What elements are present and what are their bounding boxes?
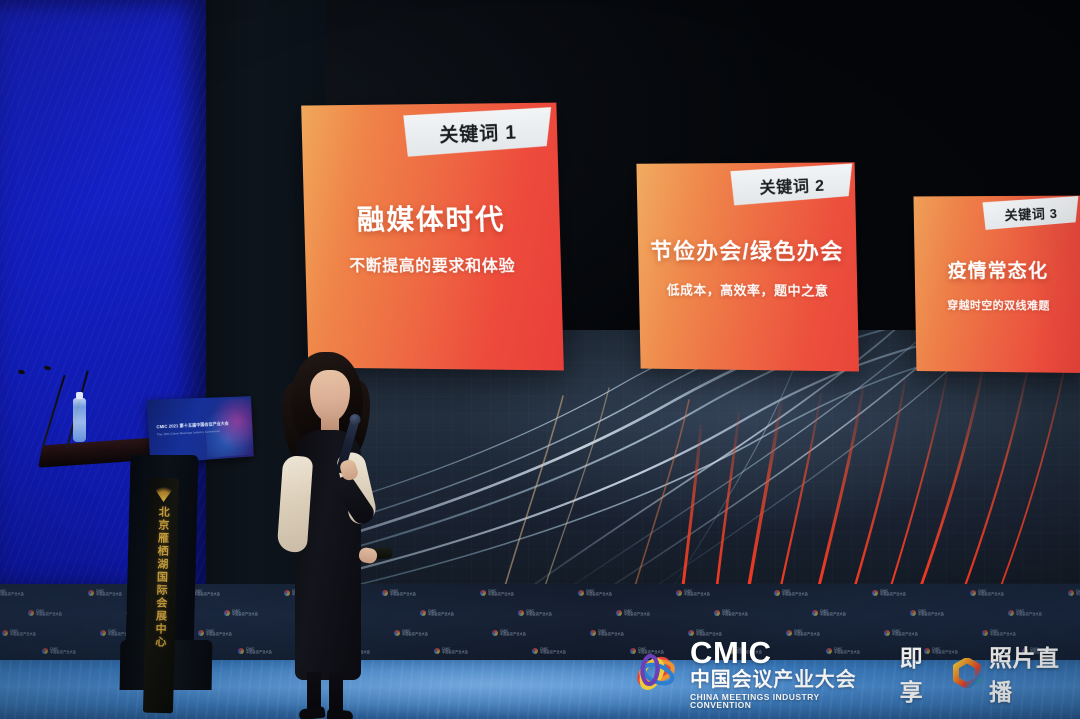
photo-watermark: CMIC 中国会议产业大会 CHINA MEETINGS INDUSTRY CO… <box>630 638 1080 708</box>
stage-front-mini-logo-text: CMIC中国会议产业大会 <box>1016 610 1042 617</box>
stage-front-mini-logo-text: CMIC中国会议产业大会 <box>10 630 36 637</box>
venue-emblem-icon <box>153 484 173 503</box>
speaker-presenter <box>255 352 405 719</box>
cmic-ribbon-icon <box>630 648 682 698</box>
cmic-ring-icon <box>532 648 538 654</box>
stage-front-mini-logo-text: CMIC中国会议产业大会 <box>782 590 808 597</box>
stage-front-mini-logo: CMIC中国会议产业大会 <box>884 630 918 637</box>
stage-front-mini-logo: CMIC中国会议产业大会 <box>518 610 552 617</box>
stage-front-mini-logo-text: CMIC中国会议产业大会 <box>402 630 428 637</box>
stage-front-mini-logo-text: CMIC中国会议产业大会 <box>526 610 552 617</box>
cmic-logo-en: CMIC <box>690 637 878 668</box>
keyword-card-2-title: 节俭办会/绿色办会 <box>650 234 844 266</box>
cmic-ring-icon <box>480 590 486 596</box>
stage-front-mini-logo-text: CMIC中国会议产业大会 <box>1076 590 1080 597</box>
stage-front-mini-logo: CMIC中国会议产业大会 <box>2 630 36 637</box>
venue-banner-text: 北京雁栖湖国际会展中心 <box>152 506 172 649</box>
stage-front-mini-logo-text: CMIC中国会议产业大会 <box>50 648 76 655</box>
stage-front-mini-logo: CMIC中国会议产业大会 <box>198 630 232 637</box>
cmic-ring-icon <box>970 590 976 596</box>
stage-front-mini-logo: CMIC中国会议产业大会 <box>590 630 624 637</box>
cmic-ring-icon <box>42 648 48 654</box>
cmic-ring-icon <box>434 648 440 654</box>
cmic-logo-text: CMIC 中国会议产业大会 CHINA MEETINGS INDUSTRY CO… <box>690 637 878 710</box>
stage-front-mini-logo: CMIC中国会议产业大会 <box>434 648 468 655</box>
venue-vertical-banner: 北京雁栖湖国际会展中心 <box>143 478 179 714</box>
stage-front-mini-logo-text: CMIC中国会议产业大会 <box>978 590 1004 597</box>
cmic-logo-cn: 中国会议产业大会 <box>690 670 878 690</box>
stage-front-mini-logo: CMIC中国会议产业大会 <box>0 590 24 597</box>
cmic-ring-icon <box>1008 610 1014 616</box>
stage-front-mini-logo: CMIC中国会议产业大会 <box>578 590 612 597</box>
cmic-ring-icon <box>590 630 596 636</box>
cmic-ring-icon <box>518 610 524 616</box>
podium-screen-artwork <box>204 398 253 458</box>
cmic-ring-icon <box>100 630 106 636</box>
cmic-ring-icon <box>1068 590 1074 596</box>
partner-hexagon-icon <box>952 658 982 688</box>
stage-front-mini-logo-text: CMIC中国会议产业大会 <box>586 590 612 597</box>
cmic-ring-icon <box>28 610 34 616</box>
partner-logo: 即享 照片直播 <box>900 639 1080 707</box>
cmic-ring-icon <box>238 648 244 654</box>
cmic-logo: CMIC 中国会议产业大会 CHINA MEETINGS INDUSTRY CO… <box>630 637 878 710</box>
stage-front-mini-logo: CMIC中国会议产业大会 <box>88 590 122 597</box>
stage-front-mini-logo-text: CMIC中国会议产业大会 <box>36 610 62 617</box>
stage-front-mini-logo-text: CMIC中国会议产业大会 <box>488 590 514 597</box>
water-bottle <box>73 398 86 442</box>
stage-front-mini-logo: CMIC中国会议产业大会 <box>420 610 454 617</box>
stage-front-mini-logo: CMIC中国会议产业大会 <box>872 590 906 597</box>
stage-front-mini-logo-text: CMIC中国会议产业大会 <box>684 590 710 597</box>
partner-brand-text: 即享 <box>900 639 945 707</box>
stage-front-mini-logo: CMIC中国会议产业大会 <box>532 648 566 655</box>
cmic-ring-icon <box>812 610 818 616</box>
stage-front-mini-logo-text: CMIC中国会议产业大会 <box>96 590 122 597</box>
stage-front-mini-logo-text: CMIC中国会议产业大会 <box>990 630 1016 637</box>
conference-stage-photo: 融媒体时代 不断提高的要求和体验 关键词 1 节俭办会/绿色办会 低成本，高效率… <box>0 0 1080 719</box>
stage-front-mini-logo-text: CMIC中国会议产业大会 <box>428 610 454 617</box>
stage-front-mini-logo: CMIC中国会议产业大会 <box>616 610 650 617</box>
cmic-ring-icon <box>982 630 988 636</box>
stage-front-mini-logo: CMIC中国会议产业大会 <box>1008 610 1042 617</box>
stage-front-mini-logo: CMIC中国会议产业大会 <box>492 630 526 637</box>
stage-front-mini-logo-text: CMIC中国会议产业大会 <box>206 630 232 637</box>
stage-front-mini-logo-text: CMIC中国会议产业大会 <box>892 630 918 637</box>
stage-front-mini-logo-text: CMIC中国会议产业大会 <box>500 630 526 637</box>
stage-front-mini-logo: CMIC中国会议产业大会 <box>1068 590 1080 597</box>
cmic-ring-icon <box>872 590 878 596</box>
stage-front-mini-logo-text: CMIC中国会议产业大会 <box>0 590 24 597</box>
stage-front-mini-logo: CMIC中国会议产业大会 <box>970 590 1004 597</box>
stage-front-mini-logo: CMIC中国会议产业大会 <box>910 610 944 617</box>
keyword-card-3-title: 疫情常态化 <box>948 255 1049 282</box>
cmic-ring-icon <box>420 610 426 616</box>
stage-front-mini-logo: CMIC中国会议产业大会 <box>224 610 258 617</box>
keyword-card-3-subtitle: 穿越时空的双线难题 <box>947 296 1050 313</box>
cmic-ring-icon <box>884 630 890 636</box>
stage-front-mini-logo: CMIC中国会议产业大会 <box>480 590 514 597</box>
stage-front-mini-logo-text: CMIC中国会议产业大会 <box>194 590 220 597</box>
cmic-ring-icon <box>198 630 204 636</box>
stage-front-mini-logo-text: CMIC中国会议产业大会 <box>624 610 650 617</box>
stage-front-mini-logo: CMIC中国会议产业大会 <box>714 610 748 617</box>
stage-front-mini-logo: CMIC中国会议产业大会 <box>774 590 808 597</box>
stage-front-mini-logo: CMIC中国会议产业大会 <box>812 610 846 617</box>
cmic-ring-icon <box>676 590 682 596</box>
stage-front-mini-logo-text: CMIC中国会议产业大会 <box>880 590 906 597</box>
cmic-ring-icon <box>714 610 720 616</box>
cmic-ring-icon <box>2 630 8 636</box>
keyword-card-2-subtitle: 低成本，高效率，题中之意 <box>667 280 829 300</box>
keyword-card-1-subtitle: 不断提高的要求和体验 <box>349 251 516 275</box>
cmic-ring-icon <box>774 590 780 596</box>
cmic-ring-icon <box>910 610 916 616</box>
cmic-ring-icon <box>578 590 584 596</box>
cmic-ring-icon <box>224 610 230 616</box>
stage-front-mini-logo: CMIC中国会议产业大会 <box>982 630 1016 637</box>
stage-front-mini-logo-text: CMIC中国会议产业大会 <box>598 630 624 637</box>
cmic-ring-icon <box>88 590 94 596</box>
speaker-shoe-left <box>298 706 325 719</box>
stage-front-mini-logo-text: CMIC中国会议产业大会 <box>722 610 748 617</box>
partner-service-text: 照片直播 <box>989 639 1080 707</box>
stage-front-mini-logo-text: CMIC中国会议产业大会 <box>540 648 566 655</box>
stage-front-mini-logo: CMIC中国会议产业大会 <box>28 610 62 617</box>
stage-front-mini-logo-text: CMIC中国会议产业大会 <box>918 610 944 617</box>
cmic-logo-tagline: CHINA MEETINGS INDUSTRY CONVENTION <box>690 693 878 710</box>
stage-front-mini-logo: CMIC中国会议产业大会 <box>42 648 76 655</box>
stage-front-mini-logo-text: CMIC中国会议产业大会 <box>442 648 468 655</box>
speaker-shoe-right <box>327 709 354 719</box>
podium-display-screen: CMIC 2021 第十五届中国会议产业大会 The 15th China Me… <box>147 396 254 464</box>
keyword-card-1-title: 融媒体时代 <box>356 197 505 237</box>
cmic-ring-icon <box>492 630 498 636</box>
stage-front-mini-logo: CMIC中国会议产业大会 <box>676 590 710 597</box>
stage-front-mini-logo-text: CMIC中国会议产业大会 <box>820 610 846 617</box>
cmic-ring-icon <box>786 630 792 636</box>
cmic-ring-icon <box>616 610 622 616</box>
